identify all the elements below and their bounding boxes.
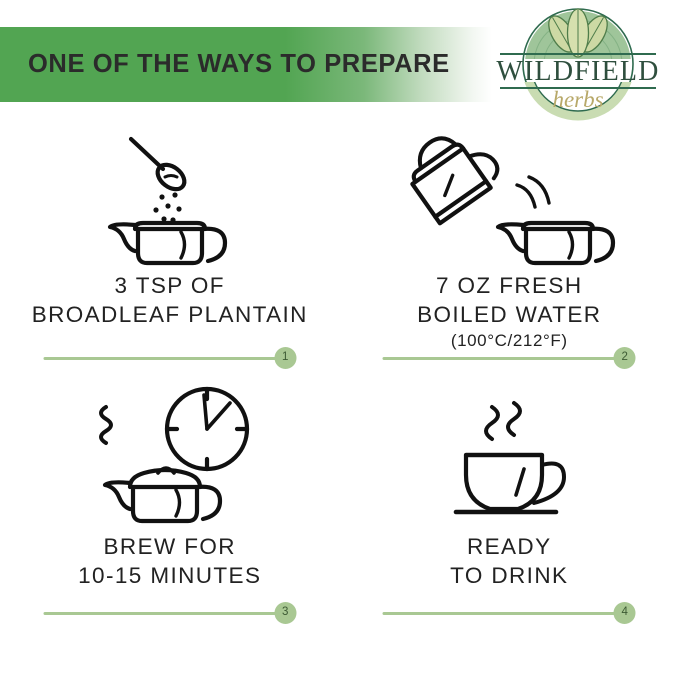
step-2-number-badge: 2	[614, 347, 636, 369]
step-1-caption: 3 TSP OF BROADLEAF PLANTAIN	[32, 272, 308, 329]
step-1-number-badge: 1	[274, 347, 296, 369]
step-4-caption: READY TO DRINK	[450, 533, 568, 590]
step-4-line-2: TO DRINK	[450, 562, 568, 591]
step-2-add-water: 7 OZ FRESH BOILED WATER (100°C/212°F) 2	[340, 128, 679, 383]
step-4-number-badge: 4	[614, 602, 636, 624]
steaming-cup-icon	[366, 383, 654, 533]
step-3-line-2: 10-15 MINUTES	[78, 562, 261, 591]
logo-tagline-text: herbs	[552, 87, 603, 112]
steps-grid: 3 TSP OF BROADLEAF PLANTAIN 1	[0, 128, 679, 638]
step-2-line-1: 7 OZ FRESH	[417, 272, 601, 301]
step-3-number-badge: 3	[274, 602, 296, 624]
step-3-line-1: BREW FOR	[78, 533, 261, 562]
step-4-progress-rail: 4	[383, 602, 636, 624]
page-title: ONE OF THE WAYS TO PREPARE	[28, 27, 450, 102]
step-3-progress-rail: 3	[43, 602, 296, 624]
step-1-rail-line	[43, 357, 287, 360]
step-2-caption: 7 OZ FRESH BOILED WATER (100°C/212°F)	[417, 272, 601, 352]
wildfield-herbs-logo: WILDFIELD herbs	[484, 4, 672, 124]
teapot-with-spoon-icon	[26, 128, 314, 270]
kettle-pouring-into-teapot-icon	[366, 128, 654, 270]
step-4-line-1: READY	[450, 533, 568, 562]
step-3-caption: BREW FOR 10-15 MINUTES	[78, 533, 261, 590]
step-2-rail-line	[383, 357, 627, 360]
step-4-ready-to-drink: READY TO DRINK 4	[340, 383, 679, 638]
step-4-rail-line	[383, 612, 627, 615]
step-3-brew: BREW FOR 10-15 MINUTES 3	[0, 383, 340, 638]
step-3-rail-line	[43, 612, 287, 615]
step-1-line-2: BROADLEAF PLANTAIN	[32, 301, 308, 330]
step-1-add-herbs: 3 TSP OF BROADLEAF PLANTAIN 1	[0, 128, 340, 383]
infographic-page: ONE OF THE WAYS TO PREPARE	[0, 0, 679, 679]
step-1-line-1: 3 TSP OF	[32, 272, 308, 301]
step-2-progress-rail: 2	[383, 347, 636, 369]
logo-brand-text: WILDFIELD	[496, 56, 659, 87]
teapot-with-clock-icon	[26, 383, 314, 533]
step-2-line-2: BOILED WATER	[417, 301, 601, 330]
step-1-progress-rail: 1	[43, 347, 296, 369]
